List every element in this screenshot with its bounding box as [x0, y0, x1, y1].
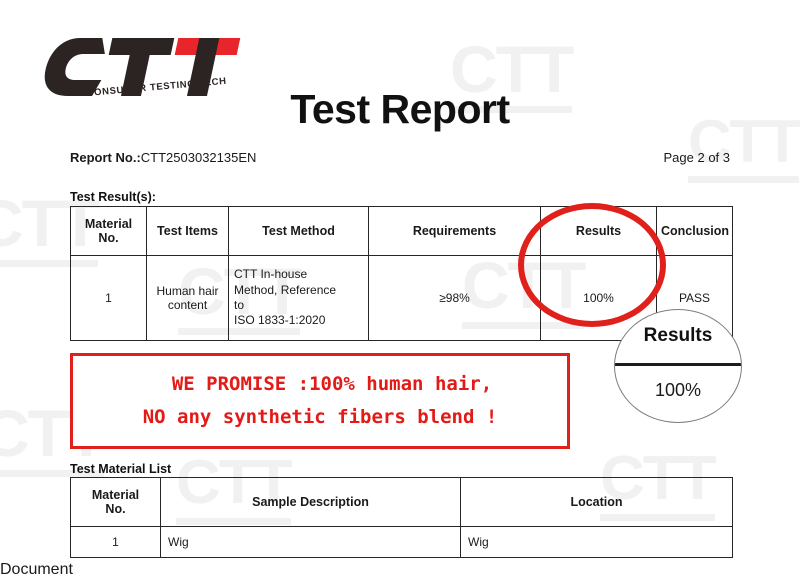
report-number-label: Report No.: — [70, 150, 141, 165]
test-material-list-table: MaterialNo. Sample Description Location … — [70, 477, 733, 558]
magnifier-value: 100% — [615, 366, 741, 422]
page-title: Test Report — [0, 86, 800, 133]
promise-line-1: WE PROMISE :100% human hair, — [148, 375, 492, 394]
cell-test-items: Human haircontent — [147, 256, 229, 341]
report-number-value: CTT2503032135EN — [141, 150, 257, 165]
table-header-row: MaterialNo. Sample Description Location — [71, 478, 733, 527]
page-indicator: Page 2 of 3 — [664, 150, 731, 165]
column-header-location: Location — [461, 478, 733, 527]
column-header-sample-description: Sample Description — [161, 478, 461, 527]
cell-sample-description: Wig — [161, 527, 461, 558]
cell-material-no: 1 — [71, 256, 147, 341]
promise-line-2: NO any synthetic fibers blend ! — [143, 408, 498, 427]
cell-requirements: ≥98% — [369, 256, 541, 341]
test-material-list-caption: Test Material List — [70, 462, 171, 476]
column-header-conclusion: Conclusion — [657, 207, 733, 256]
test-results-table: MaterialNo. Test Items Test Method Requi… — [70, 206, 733, 341]
cell-location: Wig — [461, 527, 733, 558]
test-results-caption: Test Result(s): — [70, 190, 156, 204]
promise-banner: WE PROMISE :100% human hair, NO any synt… — [70, 353, 570, 449]
report-page: CONSUMER TESTING TECH Test Report Report… — [0, 0, 800, 561]
column-header-requirements: Requirements — [369, 207, 541, 256]
table-row: 1 Wig Wig — [71, 527, 733, 558]
table-header-row: MaterialNo. Test Items Test Method Requi… — [71, 207, 733, 256]
report-number: Report No.:CTT2503032135EN — [70, 150, 256, 165]
column-header-results: Results — [541, 207, 657, 256]
column-header-test-items: Test Items — [147, 207, 229, 256]
column-header-material-no: MaterialNo. — [71, 478, 161, 527]
column-header-material-no: MaterialNo. — [71, 207, 147, 256]
column-header-test-method: Test Method — [229, 207, 369, 256]
results-magnifier-callout: Results 100% — [614, 309, 742, 423]
cell-material-no: 1 — [71, 527, 161, 558]
cell-test-method: CTT In-houseMethod, ReferencetoISO 1833-… — [229, 256, 369, 341]
